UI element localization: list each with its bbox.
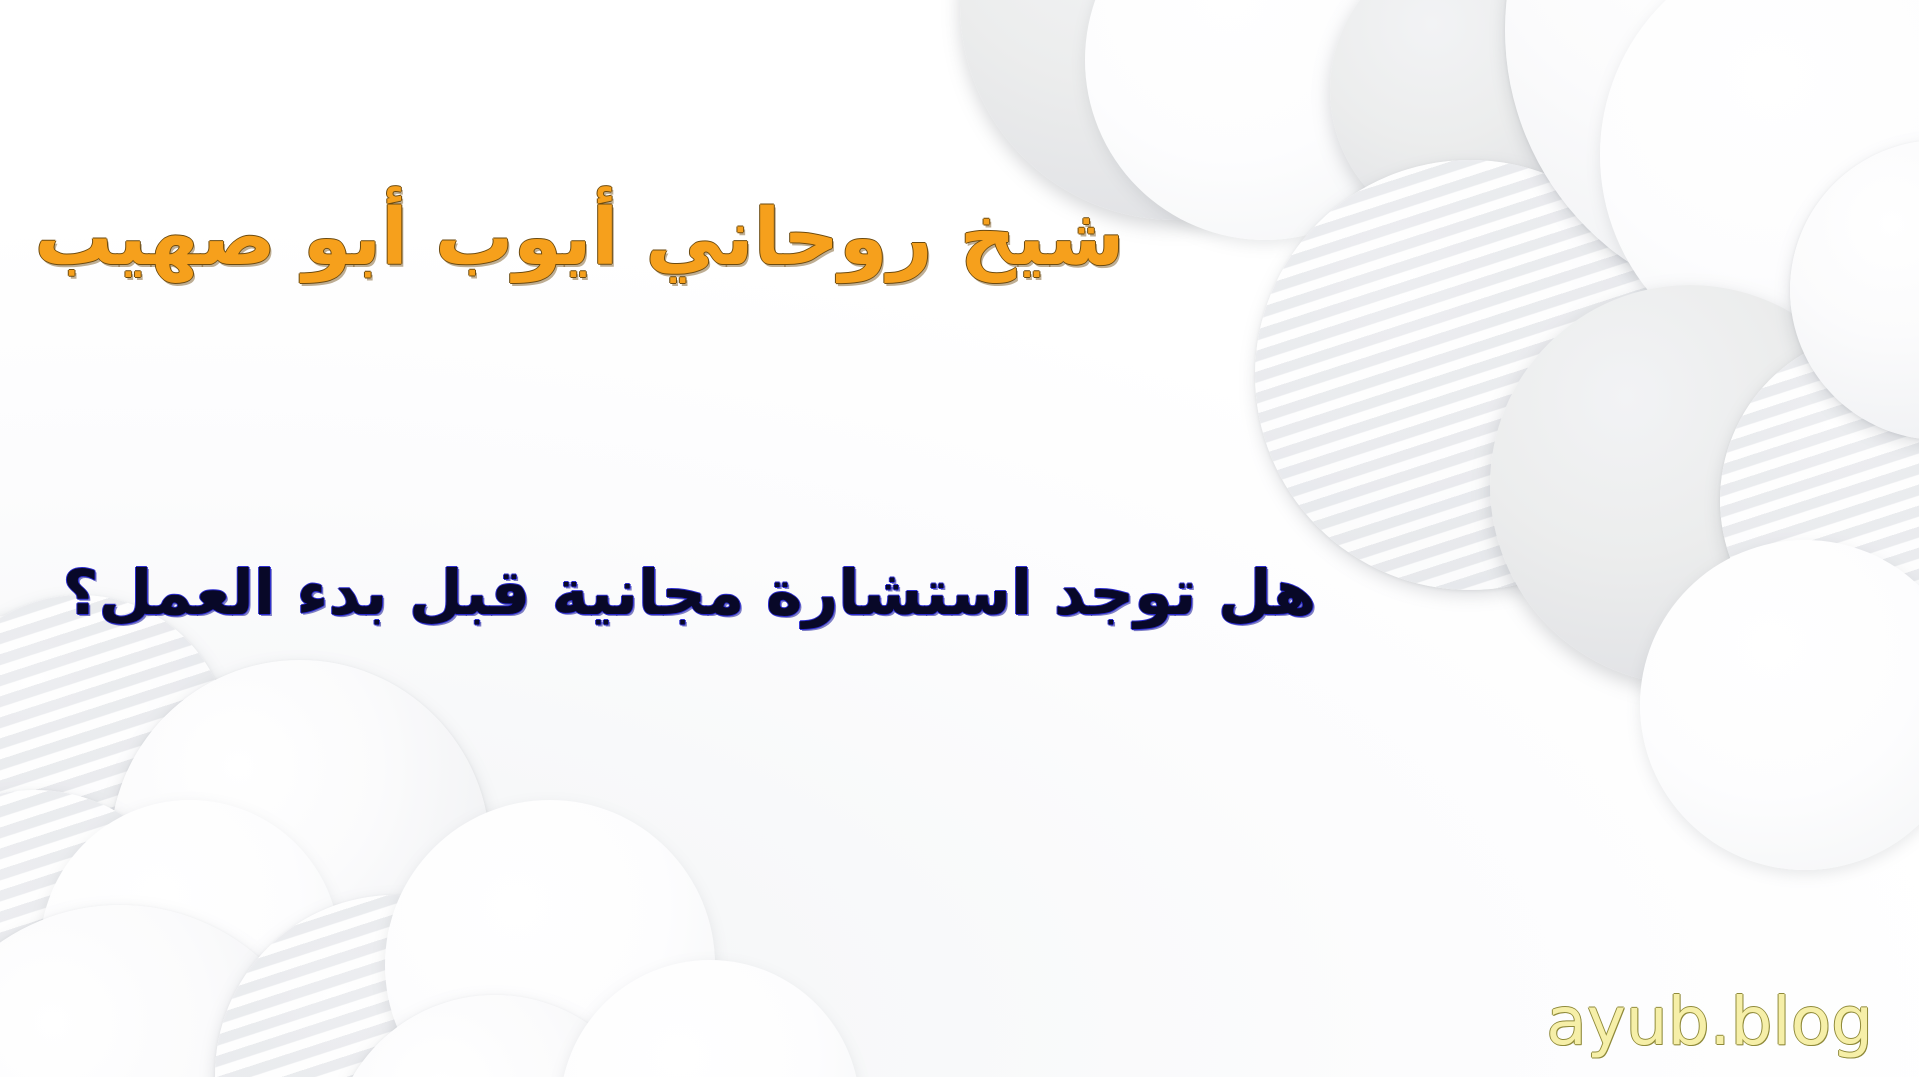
decor-circle [560, 960, 860, 1077]
decor-circle [215, 895, 575, 1077]
decor-circle [0, 905, 330, 1077]
decor-circle [110, 660, 490, 1040]
decor-circle [385, 800, 715, 1077]
banner-title-row: شيخ روحاني أيوب أبو صهيب [0, 140, 1919, 337]
banner-title: شيخ روحاني أيوب أبو صهيب [35, 192, 1125, 284]
site-watermark: ayub.blog [1546, 989, 1873, 1055]
decor-circle [40, 800, 340, 1077]
banner-question-row: هل توجد استشارة مجانية قبل بدء العمل؟ [0, 505, 1919, 682]
banner-question: هل توجد استشارة مجانية قبل بدء العمل؟ [63, 556, 1317, 630]
banner-canvas: شيخ روحاني أيوب أبو صهيب هل توجد استشارة… [0, 0, 1919, 1077]
decor-circle [330, 995, 660, 1077]
decor-circle [0, 790, 200, 1077]
